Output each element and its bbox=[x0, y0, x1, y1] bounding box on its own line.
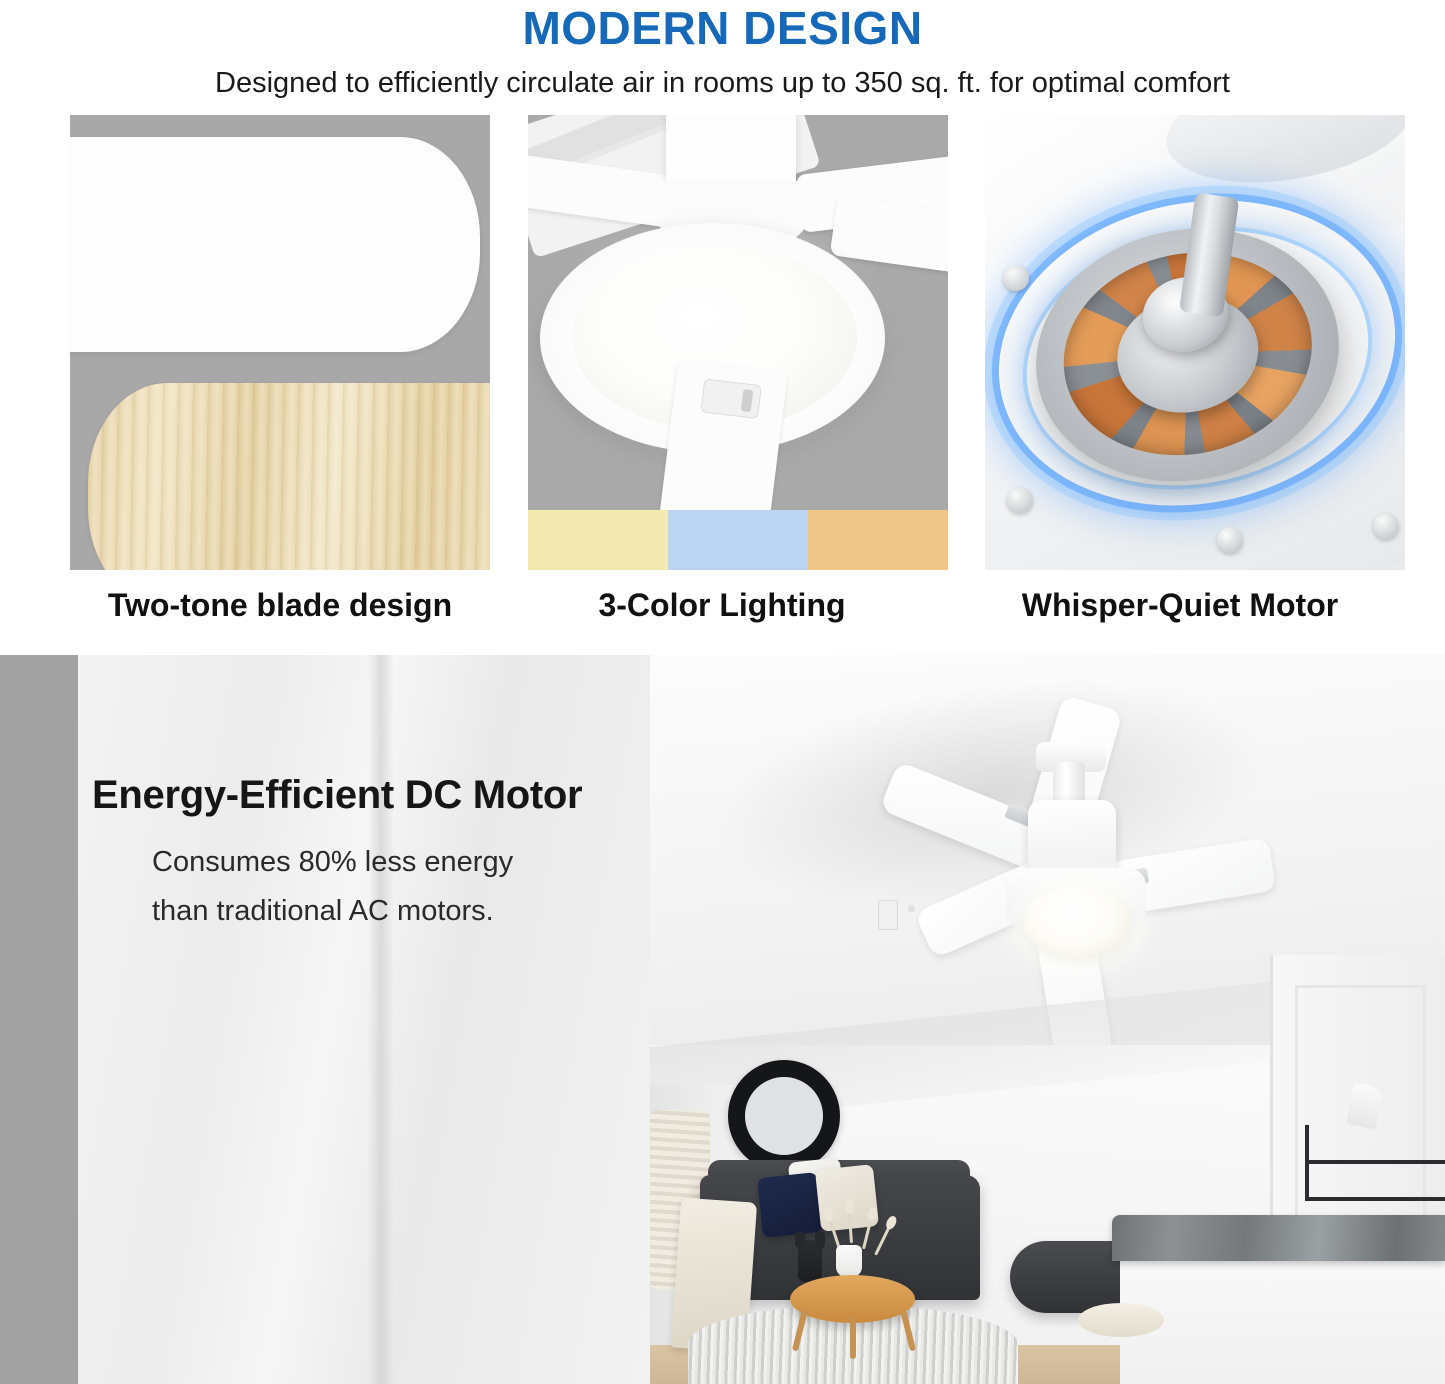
wall-dot-icon bbox=[908, 905, 915, 912]
efficiency-subtitle: Consumes 80% less energy than traditiona… bbox=[152, 838, 513, 936]
efficiency-subtitle-line1: Consumes 80% less energy bbox=[152, 838, 513, 887]
swatch-cool-white bbox=[668, 510, 808, 570]
feature-image-whisper-quiet-motor bbox=[985, 115, 1405, 570]
screw-icon bbox=[1217, 527, 1243, 553]
light-switch-icon bbox=[878, 900, 898, 930]
console-shelf bbox=[1305, 1160, 1445, 1164]
page-subtitle: Designed to efficiently circulate air in… bbox=[0, 62, 1445, 104]
blade-clip-icon bbox=[700, 378, 762, 419]
round-mirror-icon bbox=[728, 1060, 840, 1172]
feature-image-two-tone-blade bbox=[70, 115, 490, 570]
side-table-icon bbox=[1078, 1303, 1164, 1337]
feature-caption-3-color-lighting: 3-Color Lighting bbox=[492, 583, 952, 627]
wood-blade-icon bbox=[88, 383, 490, 570]
swatch-warm-amber bbox=[808, 510, 948, 570]
feature-image-3-color-lighting bbox=[528, 115, 948, 570]
left-wall-shadow bbox=[0, 655, 78, 1384]
energy-efficiency-section: Energy-Efficient DC Motor Consumes 80% l… bbox=[0, 655, 1445, 1384]
left-wall-background bbox=[78, 655, 650, 1384]
white-blade-icon bbox=[70, 137, 480, 352]
page-title: MODERN DESIGN bbox=[0, 0, 1445, 56]
screw-icon bbox=[1007, 487, 1033, 513]
screw-icon bbox=[1003, 265, 1029, 291]
pillow-navy-icon bbox=[757, 1172, 823, 1238]
modern-design-section: MODERN DESIGN Designed to efficiently ci… bbox=[0, 0, 1445, 655]
efficiency-subtitle-line2: than traditional AC motors. bbox=[152, 887, 513, 936]
feature-caption-two-tone-blade: Two-tone blade design bbox=[50, 583, 510, 627]
room-photo bbox=[650, 655, 1445, 1384]
screw-icon bbox=[1373, 513, 1399, 539]
black-vase-icon bbox=[798, 1240, 822, 1282]
swatch-warm-white bbox=[528, 510, 668, 570]
table-leg bbox=[850, 1317, 856, 1359]
kitchen-island-countertop bbox=[1112, 1215, 1445, 1261]
feature-caption-whisper-quiet-motor: Whisper-Quiet Motor bbox=[950, 583, 1410, 627]
efficiency-title: Energy-Efficient DC Motor bbox=[92, 773, 582, 818]
fan-light-icon bbox=[1023, 885, 1133, 959]
vase-icon bbox=[836, 1245, 862, 1277]
color-swatch-row bbox=[528, 510, 948, 570]
wall-seam bbox=[368, 655, 394, 1384]
coffee-table-icon bbox=[790, 1275, 915, 1323]
